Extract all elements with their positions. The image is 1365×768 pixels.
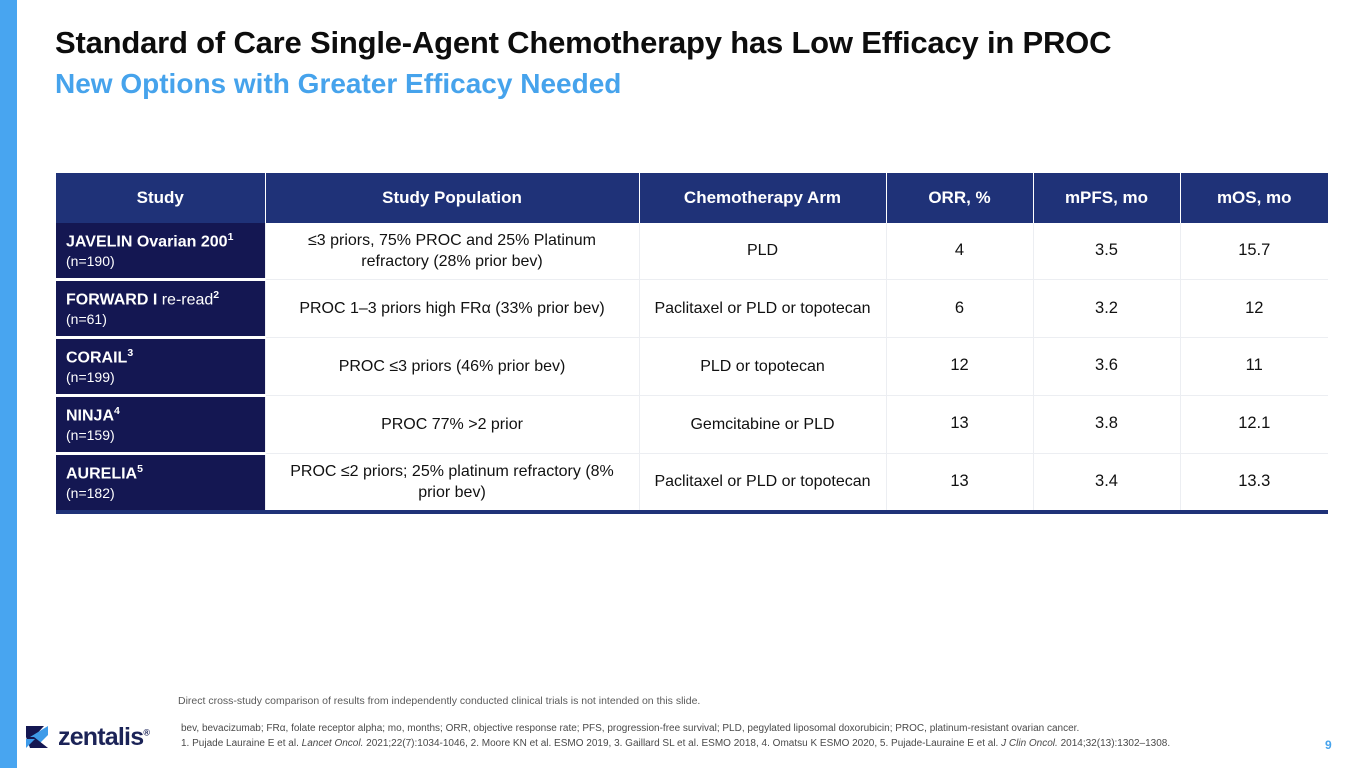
table-row: FORWARD I re-read2(n=61)PROC 1–3 priors … (56, 279, 1328, 337)
table-row: CORAIL3(n=199)PROC ≤3 priors (46% prior … (56, 337, 1328, 395)
study-sample-size: (n=159) (66, 427, 265, 444)
cell-population: PROC 1–3 priors high FRα (33% prior bev) (265, 279, 639, 337)
zentalis-mark-icon (22, 722, 52, 752)
cell-population: ≤3 priors, 75% PROC and 25% Platinum ref… (265, 223, 639, 279)
study-name: NINJA4 (66, 405, 265, 426)
study-name: CORAIL3 (66, 347, 265, 368)
cell-study: NINJA4(n=159) (56, 395, 265, 453)
cell-study: JAVELIN Ovarian 2001(n=190) (56, 223, 265, 279)
page-title: Standard of Care Single-Agent Chemothera… (55, 24, 1335, 62)
column-header-population: Study Population (265, 173, 639, 223)
footnote-abbreviations: bev, bevacizumab; FRα, folate receptor a… (181, 723, 1079, 734)
page-subtitle: New Options with Greater Efficacy Needed (55, 66, 1335, 101)
cell-mpfs: 3.2 (1033, 279, 1180, 337)
study-sample-size: (n=182) (66, 485, 265, 502)
cell-chemo-arm: PLD (639, 223, 886, 279)
study-sample-size: (n=61) (66, 311, 265, 328)
cell-mos: 11 (1180, 337, 1328, 395)
cell-orr: 12 (886, 337, 1033, 395)
cell-mpfs: 3.6 (1033, 337, 1180, 395)
left-accent-bar (0, 0, 17, 768)
column-header-mpfs: mPFS, mo (1033, 173, 1180, 223)
table-row: NINJA4(n=159)PROC 77% >2 priorGemcitabin… (56, 395, 1328, 453)
study-name: AURELIA5 (66, 463, 265, 484)
cell-population: PROC ≤2 priors; 25% platinum refractory … (265, 453, 639, 509)
cell-mpfs: 3.5 (1033, 223, 1180, 279)
study-name: JAVELIN Ovarian 2001 (66, 231, 265, 252)
zentalis-logo: zentalis® (22, 722, 149, 752)
cell-mos: 12.1 (1180, 395, 1328, 453)
cell-chemo-arm: Paclitaxel or PLD or topotecan (639, 453, 886, 509)
zentalis-wordmark: zentalis® (58, 725, 149, 750)
cell-orr: 13 (886, 395, 1033, 453)
cell-chemo-arm: Gemcitabine or PLD (639, 395, 886, 453)
column-header-orr: ORR, % (886, 173, 1033, 223)
cell-study: FORWARD I re-read2(n=61) (56, 279, 265, 337)
cell-study: CORAIL3(n=199) (56, 337, 265, 395)
study-name: FORWARD I re-read2 (66, 289, 265, 310)
footnote-references: 1. Pujade Lauraine E et al. Lancet Oncol… (181, 738, 1170, 749)
cell-orr: 13 (886, 453, 1033, 509)
cell-mos: 13.3 (1180, 453, 1328, 509)
table-header: Study Study Population Chemotherapy Arm … (56, 173, 1328, 223)
column-header-mos: mOS, mo (1180, 173, 1328, 223)
efficacy-table-wrapper: Study Study Population Chemotherapy Arm … (56, 173, 1328, 514)
cell-mpfs: 3.4 (1033, 453, 1180, 509)
table-header-row: Study Study Population Chemotherapy Arm … (56, 173, 1328, 223)
page-number: 9 (1325, 738, 1332, 752)
title-block: Standard of Care Single-Agent Chemothera… (55, 24, 1335, 101)
cell-chemo-arm: Paclitaxel or PLD or topotecan (639, 279, 886, 337)
cell-study: AURELIA5(n=182) (56, 453, 265, 509)
efficacy-table: Study Study Population Chemotherapy Arm … (56, 173, 1328, 510)
table-row: AURELIA5(n=182)PROC ≤2 priors; 25% plati… (56, 453, 1328, 509)
cell-mpfs: 3.8 (1033, 395, 1180, 453)
cell-orr: 6 (886, 279, 1033, 337)
column-header-chemo-arm: Chemotherapy Arm (639, 173, 886, 223)
slide: Standard of Care Single-Agent Chemothera… (0, 0, 1365, 768)
study-sample-size: (n=190) (66, 253, 265, 270)
column-header-study: Study (56, 173, 265, 223)
table-body: JAVELIN Ovarian 2001(n=190)≤3 priors, 75… (56, 223, 1328, 510)
cell-mos: 15.7 (1180, 223, 1328, 279)
cell-population: PROC ≤3 priors (46% prior bev) (265, 337, 639, 395)
cell-orr: 4 (886, 223, 1033, 279)
cell-chemo-arm: PLD or topotecan (639, 337, 886, 395)
table-row: JAVELIN Ovarian 2001(n=190)≤3 priors, 75… (56, 223, 1328, 279)
table-bottom-rule (56, 510, 1328, 514)
footnote-disclaimer: Direct cross-study comparison of results… (178, 695, 700, 707)
cell-mos: 12 (1180, 279, 1328, 337)
cell-population: PROC 77% >2 prior (265, 395, 639, 453)
study-sample-size: (n=199) (66, 369, 265, 386)
